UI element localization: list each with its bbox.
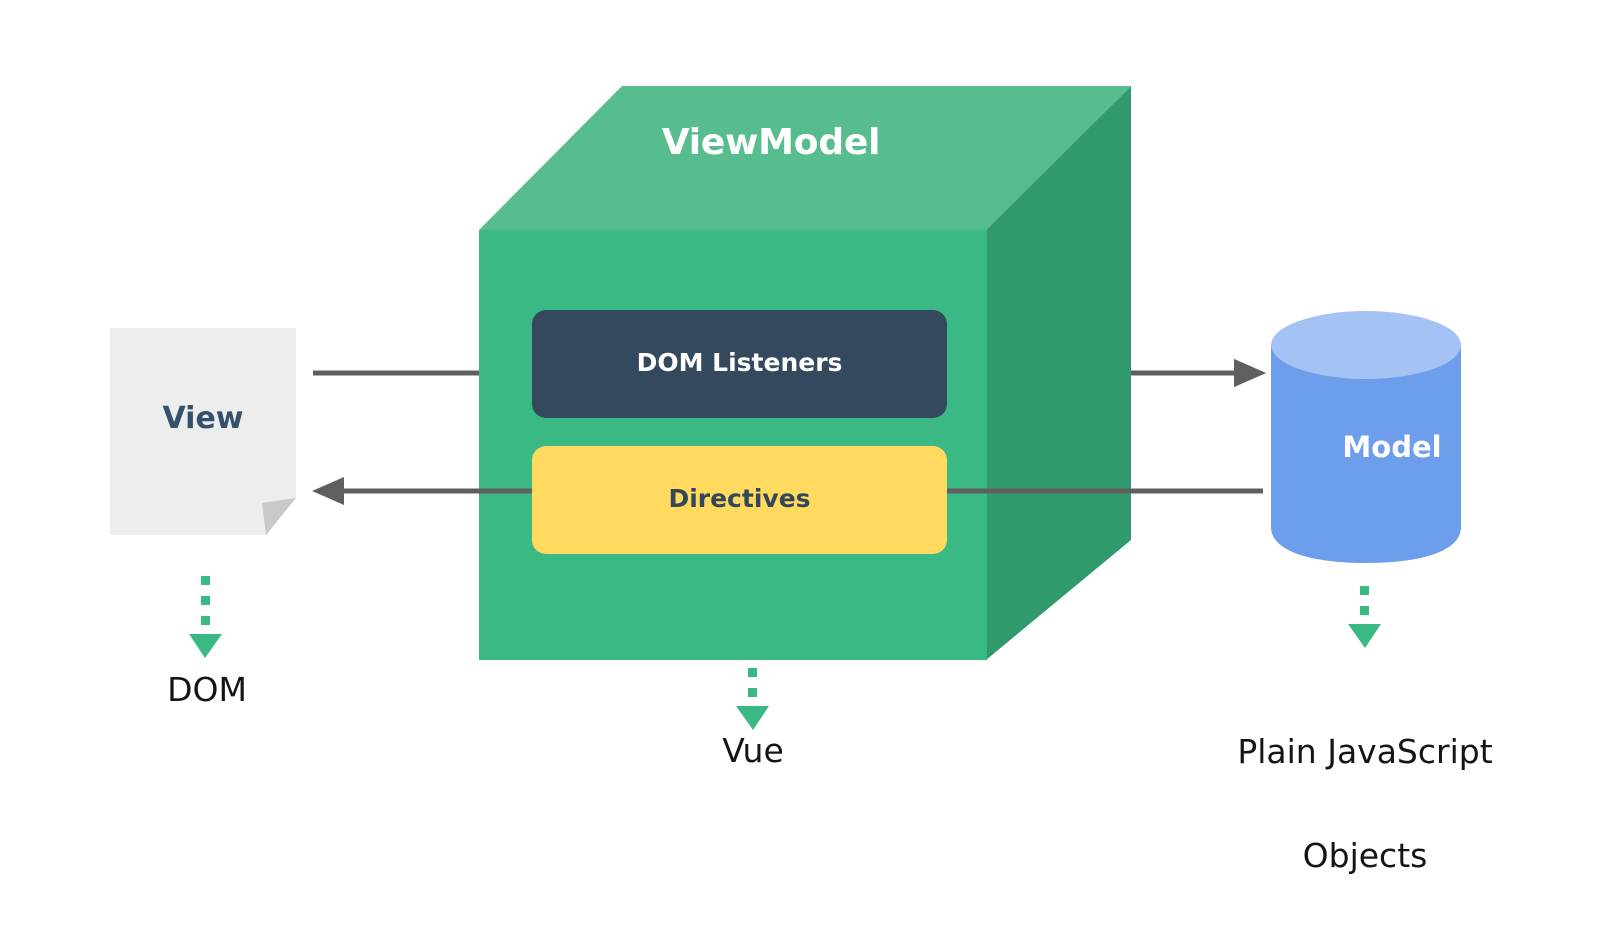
- arrow-viewmodel-to-model-segment: [1131, 359, 1266, 387]
- dotted-arrow-vue: [736, 668, 769, 730]
- dotted-arrow-plainjs: [1348, 586, 1381, 648]
- view-page-fold: [262, 498, 296, 535]
- view-node[interactable]: [110, 328, 296, 535]
- mvvm-diagram: [0, 0, 1600, 850]
- diagram-canvas: ViewModel DOM Listeners Directives View …: [0, 0, 1600, 850]
- dotted-arrow-dom: [189, 576, 222, 658]
- directives-box[interactable]: [532, 446, 947, 554]
- cube-front-face: [479, 230, 987, 660]
- dom-listeners-box[interactable]: [532, 310, 947, 418]
- model-cylinder[interactable]: [1271, 311, 1461, 563]
- cylinder-top: [1271, 311, 1461, 379]
